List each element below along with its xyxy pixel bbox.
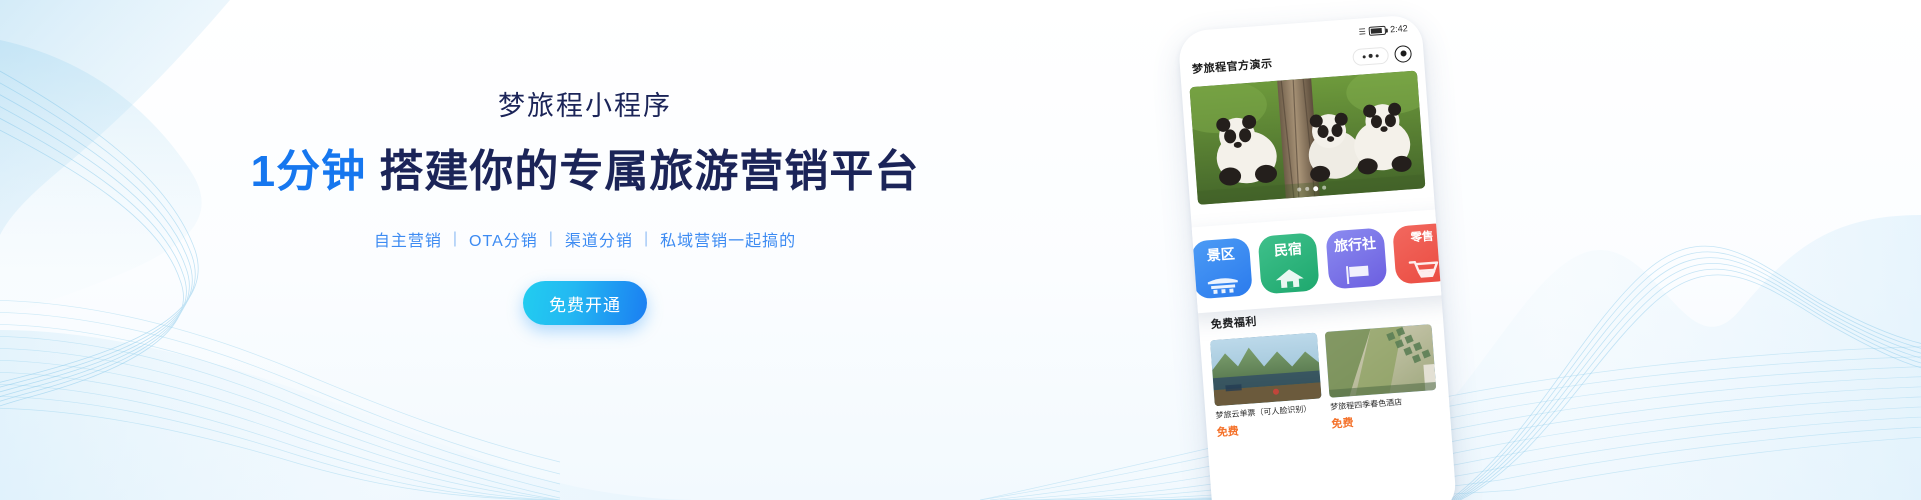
feature-separator: | xyxy=(644,230,649,248)
category-tile-homestay[interactable]: 民宿 xyxy=(1258,232,1320,294)
feature-item-3: 私域营销一起搞的 xyxy=(660,227,796,251)
feature-separator: | xyxy=(453,230,458,248)
hero-eyebrow: 梦旅程小程序 xyxy=(498,90,672,122)
cart-icon xyxy=(1395,256,1454,280)
product-card[interactable]: 梦旅云单票（可人脸识别） 免费 xyxy=(1210,333,1324,441)
hero-feature-list: 自主营销 | OTA分销 | 渠道分销 | 私域营销一起搞的 xyxy=(374,227,796,251)
phone-mockup: ☰ 2:42 梦旅程官方演示 xyxy=(1163,11,1500,500)
close-circle-icon[interactable] xyxy=(1394,44,1412,62)
hero-headline-rest: 搭建你的专属旅游营销平台 xyxy=(366,147,919,196)
category-label: 景区 xyxy=(1206,246,1235,262)
product-grid: 梦旅云单票（可人脸识别） 免费 xyxy=(1210,324,1441,440)
battery-icon xyxy=(1369,25,1387,35)
category-label: 零售 xyxy=(1410,232,1434,245)
feature-item-0: 自主营销 xyxy=(374,227,442,251)
free-signup-button[interactable]: 免费开通 xyxy=(523,281,647,325)
hero-headline-accent: 1分钟 xyxy=(251,147,366,196)
product-image xyxy=(1325,324,1437,398)
wechat-capsule xyxy=(1352,44,1412,65)
carousel-dot[interactable] xyxy=(1322,186,1326,190)
house-icon xyxy=(1260,266,1319,290)
carousel-dot[interactable] xyxy=(1297,187,1301,191)
hero-text-block: 梦旅程小程序 1分钟 搭建你的专属旅游营销平台 自主营销 | OTA分销 | 渠… xyxy=(0,0,1170,500)
category-tile-scenic[interactable]: 景区 xyxy=(1191,237,1253,299)
feature-item-2: 渠道分销 xyxy=(565,227,633,251)
product-card[interactable]: 梦旅程四季春色酒店 免费 xyxy=(1325,324,1439,432)
category-label: 民宿 xyxy=(1273,241,1302,257)
category-tile-travel-agency[interactable]: 旅行社 xyxy=(1325,227,1387,289)
carousel-dot-active[interactable] xyxy=(1313,186,1318,191)
status-bar-time: 2:42 xyxy=(1390,23,1408,34)
carousel-dot[interactable] xyxy=(1305,187,1309,191)
resort-aerial-photo xyxy=(1325,324,1437,398)
mountain-lake-photo xyxy=(1210,333,1322,407)
signal-icon: ☰ xyxy=(1358,27,1365,36)
feature-separator: | xyxy=(549,230,554,248)
miniprogram-title: 梦旅程官方演示 xyxy=(1192,55,1273,77)
gate-icon xyxy=(1193,273,1252,295)
more-dots-icon[interactable] xyxy=(1352,46,1389,66)
welfare-section: 免费福利 xyxy=(1198,291,1451,441)
feature-item-1: OTA分销 xyxy=(469,227,538,251)
flag-icon xyxy=(1328,261,1387,285)
miniprogram-banner-carousel[interactable] xyxy=(1189,71,1425,205)
category-tile-retail[interactable]: 零售 xyxy=(1392,223,1454,285)
hero-banner: 梦旅程小程序 1分钟 搭建你的专属旅游营销平台 自主营销 | OTA分销 | 渠… xyxy=(0,0,1921,500)
hero-headline: 1分钟 搭建你的专属旅游营销平台 xyxy=(251,144,920,199)
category-label: 旅行社 xyxy=(1334,236,1377,253)
product-image xyxy=(1210,333,1322,407)
phone-screen: ☰ 2:42 梦旅程官方演示 xyxy=(1177,14,1457,500)
